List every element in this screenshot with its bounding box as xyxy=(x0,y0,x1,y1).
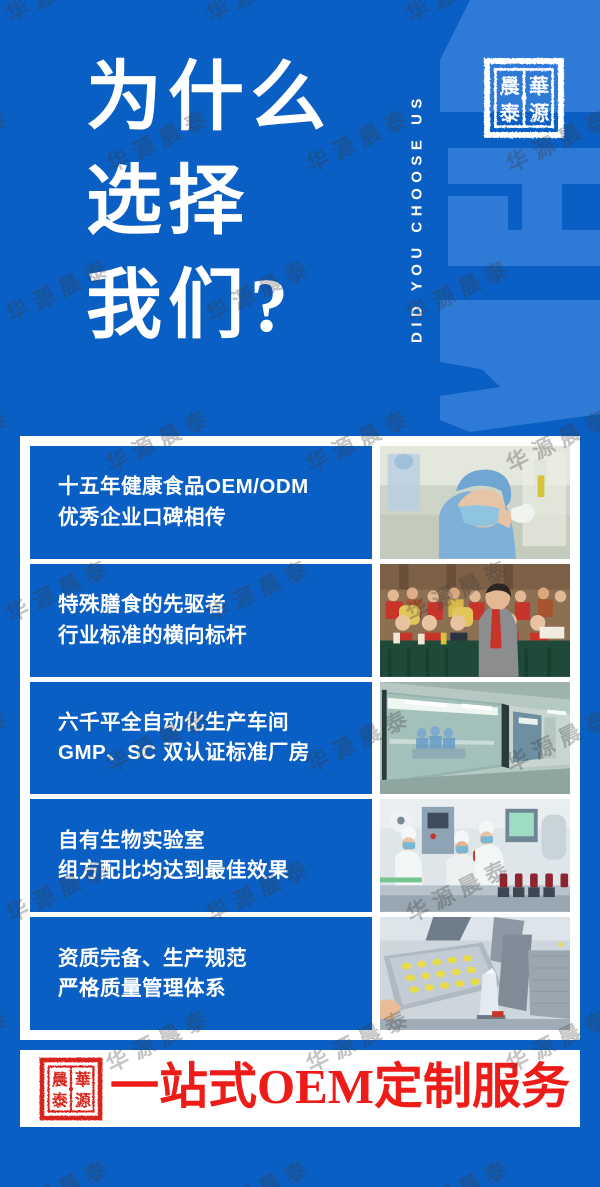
benefit-line: GMP、SC 双认证标准厂房 xyxy=(58,742,372,764)
benefit-photo-blister-packaging-machine xyxy=(380,917,570,1030)
benefit-card-text: 十五年健康食品OEM/ODM 优秀企业口碑相传 xyxy=(30,446,372,559)
svg-text:泰: 泰 xyxy=(500,101,521,125)
cta-banner-text: 一站式OEM定制服务 xyxy=(110,1062,570,1115)
benefit-line: 组方配比均达到最佳效果 xyxy=(58,860,372,882)
benefit-line: 行业标准的横向标杆 xyxy=(58,625,372,647)
svg-text:晨: 晨 xyxy=(500,75,521,98)
benefit-card[interactable]: 十五年健康食品OEM/ODM 优秀企业口碑相传 xyxy=(30,446,570,559)
svg-text:泰: 泰 xyxy=(51,1091,68,1110)
benefit-line: 优秀企业口碑相传 xyxy=(58,507,372,529)
vertical-subtitle: DID YOU CHOOSE US xyxy=(404,24,430,412)
benefit-card-text: 六千平全自动化生产车间 GMP、SC 双认证标准厂房 xyxy=(30,682,372,795)
svg-text:華: 華 xyxy=(75,1070,91,1089)
header-section: 为什么 选择 我们? DID YOU CHOOSE US 晨 泰 華 源 xyxy=(0,0,600,436)
watermark-text: 华源晨泰 xyxy=(0,699,18,779)
benefit-line: 特殊膳食的先驱者 xyxy=(58,594,372,616)
benefit-card-text: 自有生物实验室 组方配比均达到最佳效果 xyxy=(30,799,372,912)
watermark-text: 华源晨泰 xyxy=(400,1149,518,1187)
svg-text:源: 源 xyxy=(75,1091,91,1110)
benefit-line: 严格质量管理体系 xyxy=(58,978,372,1000)
benefit-photo-lab-technician xyxy=(380,446,570,559)
benefit-card[interactable]: 自有生物实验室 组方配比均达到最佳效果 xyxy=(30,799,570,912)
benefit-photo-workshop-corridor xyxy=(380,682,570,795)
benefit-card[interactable]: 六千平全自动化生产车间 GMP、SC 双认证标准厂房 xyxy=(30,682,570,795)
benefit-line: 十五年健康食品OEM/ODM xyxy=(58,476,372,498)
svg-text:源: 源 xyxy=(529,102,549,125)
poster-root: 为什么 选择 我们? DID YOU CHOOSE US 晨 泰 華 源 xyxy=(0,0,600,1187)
logo-seal-icon: 晨 泰 華 源 xyxy=(482,56,566,140)
cta-banner[interactable]: 晨 泰 華 源 一站式OEM定制服务 xyxy=(20,1050,580,1127)
headline-line-3: 我们? xyxy=(86,254,386,358)
benefits-card-list: 十五年健康食品OEM/ODM 优秀企业口碑相传 xyxy=(30,446,570,1030)
benefit-card-text: 特殊膳食的先驱者 行业标准的横向标杆 xyxy=(30,564,372,677)
benefit-line: 自有生物实验室 xyxy=(58,830,372,852)
benefit-line: 六千平全自动化生产车间 xyxy=(58,712,372,734)
watermark-text: 华源晨泰 xyxy=(200,1149,318,1187)
watermark-text: 华源晨泰 xyxy=(0,999,18,1079)
benefit-photo-conference-audience xyxy=(380,564,570,677)
svg-text:華: 華 xyxy=(529,75,549,98)
benefit-card-text: 资质完备、生产规范 严格质量管理体系 xyxy=(30,917,372,1030)
headline-line-1: 为什么 xyxy=(86,46,386,150)
benefit-photo-lab-staff-filling-line xyxy=(380,799,570,912)
watermark-text: 华源晨泰 xyxy=(0,1149,118,1187)
benefit-card[interactable]: 资质完备、生产规范 严格质量管理体系 xyxy=(30,917,570,1030)
logo-seal-red-icon: 晨 泰 華 源 xyxy=(38,1056,104,1122)
benefits-panel: 十五年健康食品OEM/ODM 优秀企业口碑相传 xyxy=(20,436,580,1040)
page-title: 为什么 选择 我们? xyxy=(86,46,386,358)
headline-line-2: 选择 xyxy=(86,150,386,254)
benefit-card[interactable]: 特殊膳食的先驱者 行业标准的横向标杆 xyxy=(30,564,570,677)
svg-text:晨: 晨 xyxy=(52,1071,68,1089)
benefit-line: 资质完备、生产规范 xyxy=(58,948,372,970)
